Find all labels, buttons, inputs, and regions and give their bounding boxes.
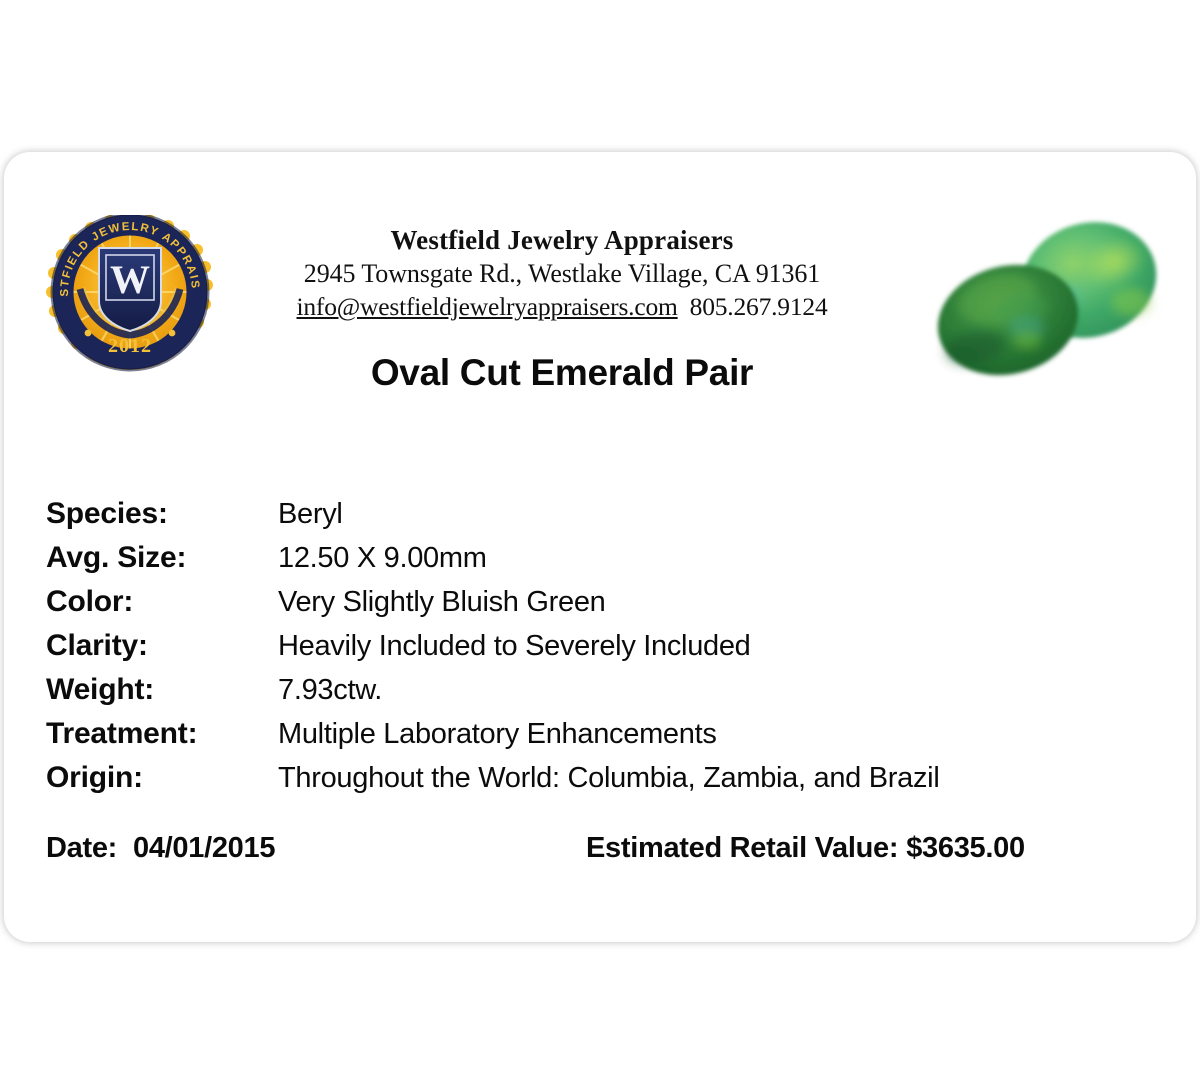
svg-text:2012: 2012 bbox=[108, 335, 152, 357]
contact-line: info@westfieldjewelryappraisers.com805.2… bbox=[226, 290, 898, 323]
spec-row-avg-size: Avg. Size: 12.50 X 9.00mm bbox=[46, 541, 1156, 585]
date-value: 04/01/2015 bbox=[133, 832, 275, 864]
estimated-retail-value-group: Estimated Retail Value:$3635.00 bbox=[586, 832, 1156, 865]
spec-label-species: Species: bbox=[46, 497, 278, 531]
spec-label-treatment: Treatment: bbox=[46, 717, 278, 751]
company-address: 2945 Townsgate Rd., Westlake Village, CA… bbox=[226, 257, 898, 290]
footer-row: Date:04/01/2015 Estimated Retail Value:$… bbox=[46, 832, 1156, 865]
item-title: Oval Cut Emerald Pair bbox=[226, 352, 898, 394]
spec-value-clarity: Heavily Included to Severely Included bbox=[278, 630, 1156, 663]
spec-row-origin: Origin: Throughout the World: Columbia, … bbox=[46, 761, 1156, 805]
spec-row-clarity: Clarity: Heavily Included to Severely In… bbox=[46, 629, 1156, 673]
spec-label-weight: Weight: bbox=[46, 673, 278, 707]
specification-table: Species: Beryl Avg. Size: 12.50 X 9.00mm… bbox=[46, 497, 1156, 805]
company-name: Westfield Jewelry Appraisers bbox=[226, 224, 898, 257]
estimated-retail-value-label: Estimated Retail Value: bbox=[586, 832, 898, 864]
spec-label-color: Color: bbox=[46, 585, 278, 619]
emerald-pair-photo bbox=[909, 210, 1187, 410]
spec-value-origin: Throughout the World: Columbia, Zambia, … bbox=[278, 762, 1156, 795]
spec-value-species: Beryl bbox=[278, 498, 1156, 531]
date-label: Date: bbox=[46, 832, 117, 864]
spec-label-clarity: Clarity: bbox=[46, 629, 278, 663]
spec-value-treatment: Multiple Laboratory Enhancements bbox=[278, 718, 1156, 751]
spec-value-color: Very Slightly Bluish Green bbox=[278, 586, 1156, 619]
appraisal-certificate-card: WESTFIELD JEWELRY APPRAISERS W 2012 West… bbox=[4, 152, 1196, 942]
letterhead: Westfield Jewelry Appraisers 2945 Townsg… bbox=[226, 224, 898, 323]
spec-label-origin: Origin: bbox=[46, 761, 278, 795]
company-email-link[interactable]: info@westfieldjewelryappraisers.com bbox=[297, 292, 678, 321]
spec-value-avg-size: 12.50 X 9.00mm bbox=[278, 542, 1156, 575]
company-phone: 805.267.9124 bbox=[690, 292, 828, 321]
appraiser-seal-icon: WESTFIELD JEWELRY APPRAISERS W 2012 bbox=[44, 215, 216, 373]
spec-row-weight: Weight: 7.93ctw. bbox=[46, 673, 1156, 717]
spec-label-avg-size: Avg. Size: bbox=[46, 541, 278, 575]
spec-value-weight: 7.93ctw. bbox=[278, 674, 1156, 707]
spec-row-color: Color: Very Slightly Bluish Green bbox=[46, 585, 1156, 629]
estimated-retail-value-amount: $3635.00 bbox=[906, 832, 1025, 864]
svg-text:W: W bbox=[110, 257, 150, 302]
spec-row-treatment: Treatment: Multiple Laboratory Enhanceme… bbox=[46, 717, 1156, 761]
spec-row-species: Species: Beryl bbox=[46, 497, 1156, 541]
date-group: Date:04/01/2015 bbox=[46, 832, 586, 865]
